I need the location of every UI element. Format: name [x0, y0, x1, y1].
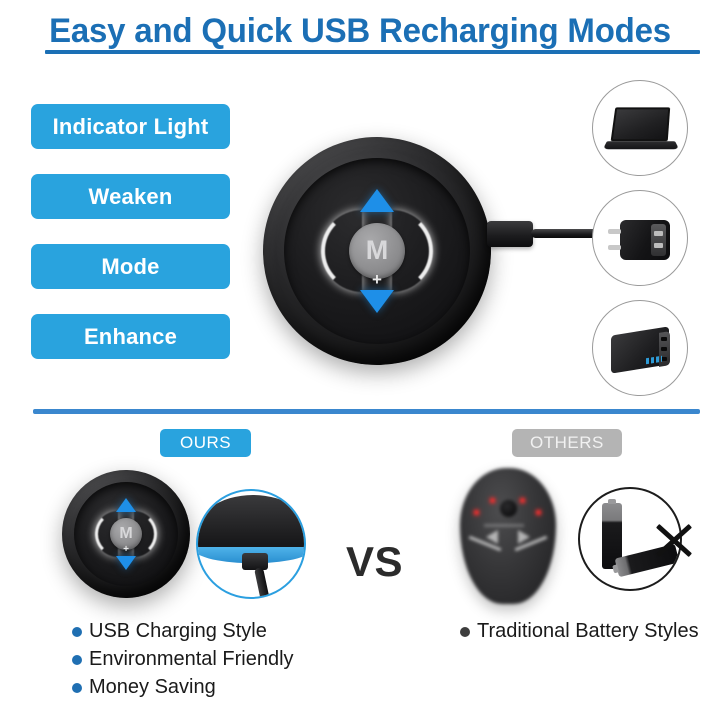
usb-plug-icon	[487, 221, 533, 247]
title-underline	[45, 50, 700, 54]
closeup-usb-plug-icon	[242, 553, 268, 570]
bullet-dot-icon	[72, 627, 82, 637]
list-item: USB Charging Style	[72, 620, 294, 643]
increase-arrow-icon	[116, 498, 136, 512]
competitor-center-button	[500, 500, 517, 517]
feature-badge-enhance[interactable]: Enhance	[31, 314, 230, 359]
list-item: Environmental Friendly	[72, 648, 294, 671]
page-title-text: Easy and Quick USB Recharging Modes	[11, 12, 709, 51]
charger-prong	[608, 245, 621, 250]
bullet-dot-icon	[72, 655, 82, 665]
increase-arrow-icon[interactable]	[360, 189, 394, 212]
charger-usb-port	[654, 231, 663, 236]
charger-prong	[608, 229, 621, 234]
list-item-label: Environmental Friendly	[89, 648, 294, 671]
feature-badge-label: Indicator Light	[53, 114, 209, 140]
competitor-led-indicator	[536, 510, 541, 515]
ours-badge: OURS	[160, 429, 251, 457]
competitor-led-indicator	[520, 498, 525, 503]
feature-badge-mode[interactable]: Mode	[31, 244, 230, 289]
increase-sign: +	[123, 545, 129, 555]
feature-badge-list: Indicator Light Weaken Mode Enhance	[31, 104, 230, 384]
closeup-usb-cable	[254, 567, 270, 599]
mode-button-label: M	[119, 525, 132, 543]
infographic-page: Easy and Quick USB Recharging Modes Indi…	[0, 0, 720, 720]
others-badge: OTHERS	[512, 429, 622, 457]
competitor-led-indicator	[474, 510, 479, 515]
charging-source-laptop-icon	[592, 80, 688, 176]
cross-out-x-icon	[652, 518, 696, 562]
bullet-dot-icon	[72, 683, 82, 693]
ours-benefit-list: USB Charging Style Environmental Friendl…	[72, 620, 294, 704]
power-bank-port	[661, 337, 667, 341]
competitor-device-image	[460, 468, 556, 604]
charging-source-power-bank-icon	[592, 300, 688, 396]
charger-port-face	[651, 224, 666, 256]
device-inner-face: - M +	[284, 158, 471, 345]
competitor-arrow-left-icon	[486, 530, 498, 544]
list-item: Traditional Battery Styles	[460, 620, 699, 643]
decrease-arrow-icon[interactable]	[360, 290, 394, 313]
feature-badge-weaken[interactable]: Weaken	[31, 174, 230, 219]
list-item-label: USB Charging Style	[89, 620, 267, 643]
others-drawback-list: Traditional Battery Styles	[460, 620, 699, 648]
others-badge-label: OTHERS	[530, 433, 604, 452]
usb-charging-closeup-image	[196, 489, 306, 599]
charger-usb-port	[654, 243, 663, 248]
page-title: Easy and Quick USB Recharging Modes	[0, 12, 720, 51]
main-device-image: - M +	[263, 137, 491, 365]
decrease-arrow-icon	[116, 556, 136, 570]
ours-badge-label: OURS	[180, 433, 231, 452]
versus-label: VS	[346, 538, 403, 586]
competitor-label-band	[484, 524, 524, 527]
competitor-led-indicator	[490, 498, 495, 503]
power-bank-port	[661, 347, 667, 351]
mode-button-label: M	[366, 235, 389, 266]
bullet-dot-icon	[460, 627, 470, 637]
feature-badge-label: Mode	[101, 254, 159, 280]
laptop-screen	[611, 107, 671, 141]
feature-badge-label: Enhance	[84, 324, 177, 350]
section-divider	[33, 409, 700, 414]
device-inner-face: - M +	[74, 482, 179, 587]
laptop-keyboard	[603, 141, 679, 149]
list-item-label: Traditional Battery Styles	[477, 620, 699, 643]
increase-sign: +	[372, 271, 382, 288]
list-item-label: Money Saving	[89, 676, 216, 699]
charging-source-wall-charger-icon	[592, 190, 688, 286]
feature-badge-label: Weaken	[89, 184, 173, 210]
ours-device-image: - M +	[62, 470, 190, 598]
feature-badge-indicator-light[interactable]: Indicator Light	[31, 104, 230, 149]
list-item: Money Saving	[72, 676, 294, 699]
